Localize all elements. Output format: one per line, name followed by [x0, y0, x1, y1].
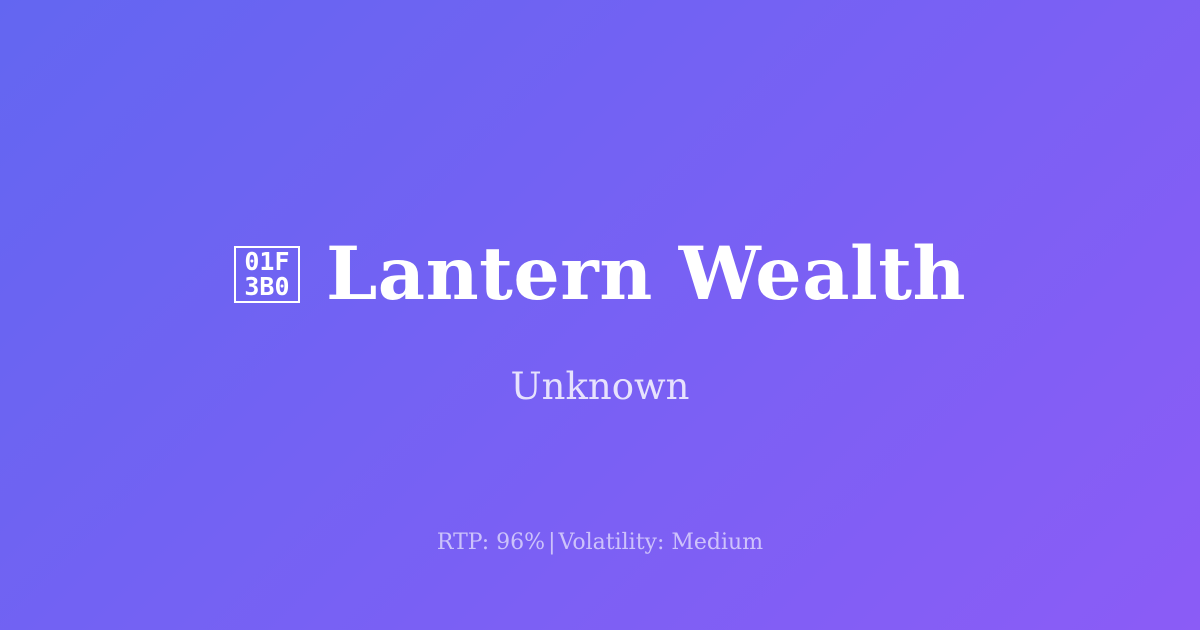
game-meta-line: RTP: 96%|Volatility: Medium: [0, 528, 1200, 558]
tofu-codepoint-bottom: 3B0: [244, 274, 289, 299]
slot-machine-icon: 01F 3B0: [234, 246, 300, 303]
page-title: Lantern Wealth: [326, 232, 966, 316]
og-share-card: 01F 3B0 Lantern Wealth Unknown RTP: 96%|…: [0, 0, 1200, 630]
tofu-codepoint-top: 01F: [244, 249, 289, 274]
meta-separator: |: [545, 530, 558, 555]
rtp-label: RTP: 96%: [437, 530, 545, 555]
volatility-label: Volatility: Medium: [559, 530, 764, 555]
page-subtitle: Unknown: [0, 364, 1200, 410]
title-row: 01F 3B0 Lantern Wealth: [0, 232, 1200, 316]
